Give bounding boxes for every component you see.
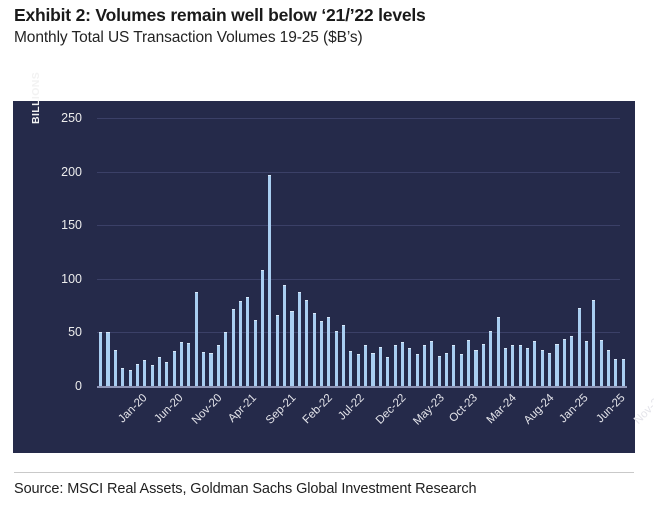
bar <box>313 313 316 386</box>
bar <box>622 359 625 386</box>
bar <box>379 347 382 386</box>
bar <box>511 345 514 386</box>
bar <box>283 285 286 386</box>
bar <box>357 354 360 386</box>
footer-divider <box>14 472 634 473</box>
chart-plot-area <box>13 101 635 453</box>
y-axis-tick-label: 200 <box>61 165 82 179</box>
bar <box>327 317 330 386</box>
bar <box>151 365 154 386</box>
bar <box>423 345 426 386</box>
bar <box>578 308 581 386</box>
bar <box>246 297 249 386</box>
bar <box>261 270 264 386</box>
bar <box>585 341 588 386</box>
bar <box>298 292 301 386</box>
bar <box>371 353 374 386</box>
bar <box>600 340 603 386</box>
bar <box>99 332 102 386</box>
bar <box>136 364 139 387</box>
bar <box>268 175 271 386</box>
y-axis-tick-label: 100 <box>61 272 82 286</box>
chart-page: Exhibit 2: Volumes remain well below ‘21… <box>0 0 654 507</box>
bar <box>416 354 419 386</box>
bar <box>217 345 220 386</box>
y-axis-title: BILLIONS <box>30 72 42 124</box>
bar <box>349 351 352 386</box>
bar <box>504 348 507 386</box>
bar <box>607 350 610 386</box>
bar <box>482 344 485 386</box>
bar <box>106 332 109 386</box>
bar <box>195 292 198 386</box>
bar <box>526 348 529 386</box>
bar <box>143 360 146 386</box>
y-axis-tick-label: 50 <box>68 325 82 339</box>
page-title: Exhibit 2: Volumes remain well below ‘21… <box>14 5 426 26</box>
bar <box>180 342 183 386</box>
bar <box>335 331 338 386</box>
x-axis-tick-label: Nov-25 <box>632 392 654 427</box>
bar <box>533 341 536 386</box>
bar <box>114 350 117 386</box>
bar <box>305 300 308 386</box>
bar <box>548 353 551 386</box>
bar <box>224 332 227 386</box>
bar <box>187 343 190 386</box>
bar <box>452 345 455 386</box>
bar <box>173 351 176 386</box>
bar <box>158 357 161 386</box>
bar <box>165 362 168 386</box>
bar <box>519 345 522 386</box>
source-note: Source: MSCI Real Assets, Goldman Sachs … <box>14 481 476 497</box>
bar <box>474 350 477 386</box>
bar <box>239 301 242 386</box>
chart-baseline <box>97 386 627 388</box>
y-axis-tick-label: 0 <box>75 379 82 393</box>
page-subtitle: Monthly Total US Transaction Volumes 19-… <box>14 29 363 47</box>
bar <box>489 331 492 386</box>
bar <box>232 309 235 386</box>
bar <box>570 336 573 386</box>
bar <box>209 353 212 386</box>
bar <box>129 370 132 386</box>
bar <box>401 342 404 386</box>
bar <box>254 320 257 386</box>
bar <box>408 348 411 386</box>
bar <box>121 368 124 386</box>
y-axis-ticks: 050100150200250 <box>45 101 82 453</box>
bar <box>320 321 323 386</box>
bar <box>202 352 205 386</box>
bar <box>386 357 389 386</box>
y-axis-tick-label: 250 <box>61 111 82 125</box>
bar <box>445 353 448 386</box>
bar <box>563 339 566 386</box>
bar <box>430 341 433 386</box>
bar <box>460 354 463 386</box>
bar <box>592 300 595 386</box>
bar <box>276 315 279 386</box>
bar <box>394 345 397 386</box>
bar <box>467 340 470 386</box>
bar <box>541 350 544 386</box>
bar <box>342 325 345 386</box>
bar <box>364 345 367 386</box>
bar <box>438 356 441 386</box>
chart-bars <box>97 101 627 453</box>
y-axis-tick-label: 150 <box>61 218 82 232</box>
bar <box>555 344 558 386</box>
bar <box>497 317 500 386</box>
bar <box>290 311 293 386</box>
bar <box>614 359 617 386</box>
